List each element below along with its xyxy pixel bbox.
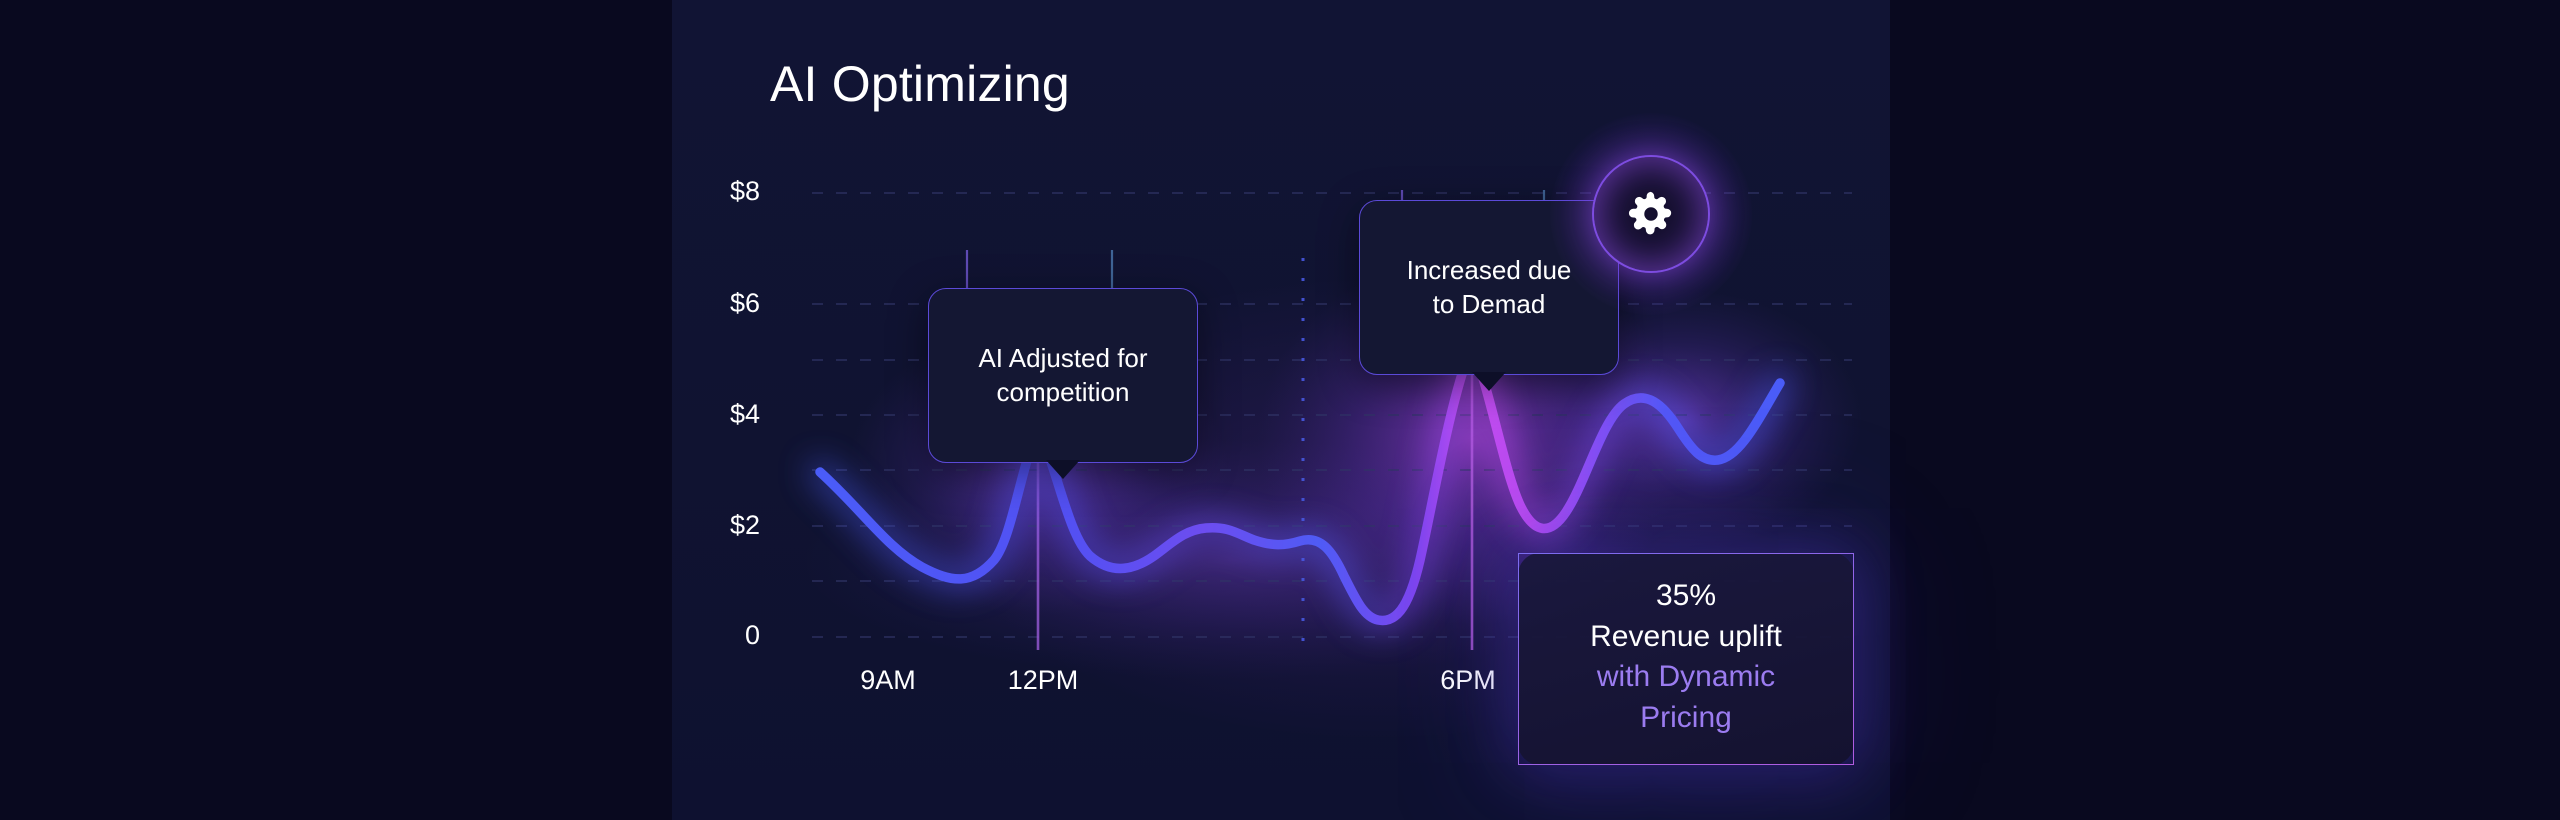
annotation-ai-adjusted[interactable]: AI Adjusted for competition <box>928 288 1198 463</box>
annotation-arrow-icon <box>1046 460 1080 479</box>
annotation-arrow-icon <box>1472 372 1506 391</box>
gear-icon <box>1625 188 1677 240</box>
annotation-increased-demand-text: Increased due to Demad <box>1407 255 1572 318</box>
metric-percent: 35% <box>1549 576 1823 617</box>
metric-card[interactable]: 35% Revenue uplift with Dynamic Pricing <box>1518 553 1854 765</box>
gear-badge[interactable] <box>1592 155 1710 273</box>
annotation-ai-adjusted-text: AI Adjusted for competition <box>978 343 1147 406</box>
gear-ring <box>1592 155 1710 273</box>
metric-label: Revenue uplift <box>1549 617 1823 658</box>
illustration-canvas: AI Optimizing $8 $6 $4 $2 0 9AM 12PM 6PM <box>0 0 2560 820</box>
metric-accent: with Dynamic Pricing <box>1549 657 1823 738</box>
